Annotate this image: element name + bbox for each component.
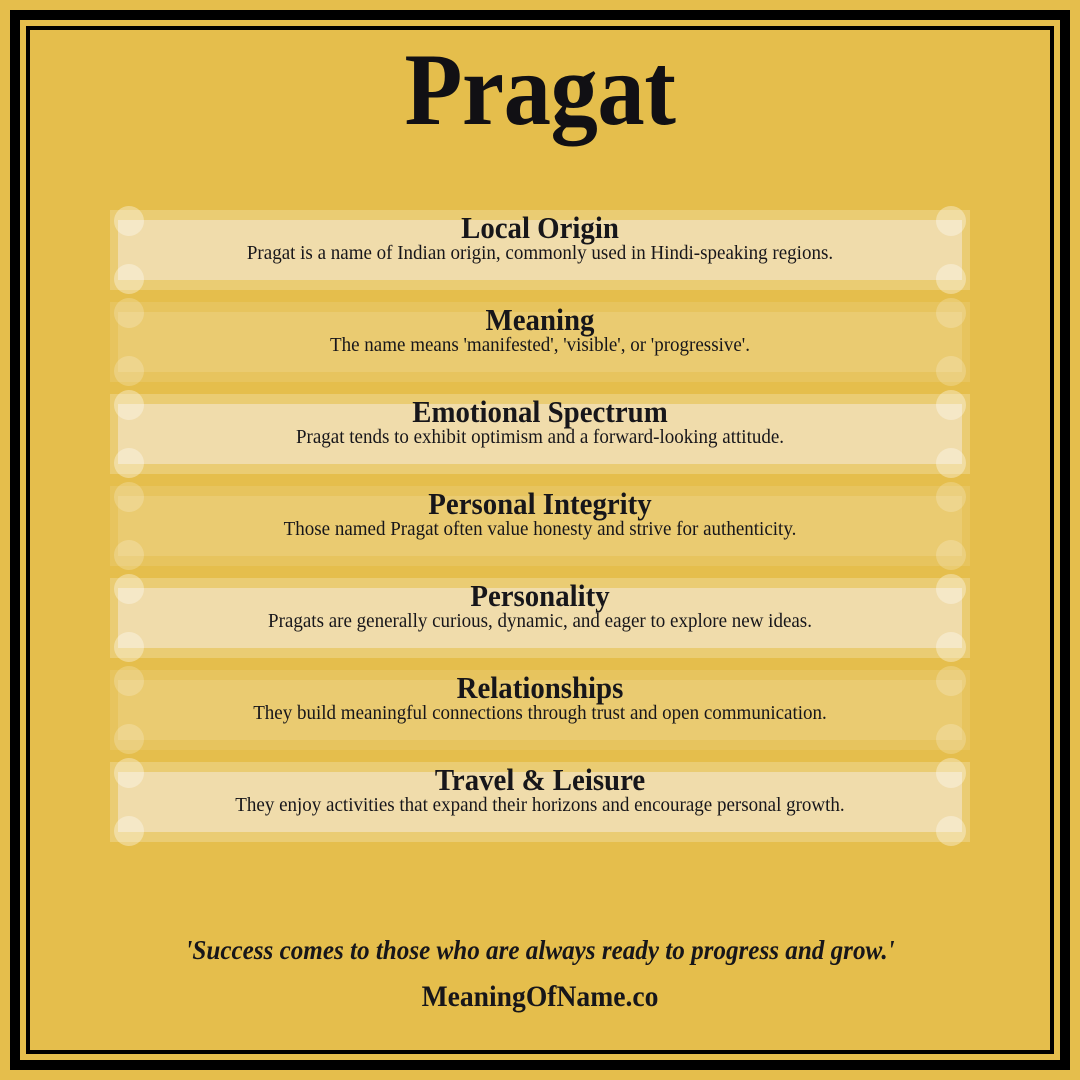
card-heading: Meaning bbox=[140, 304, 940, 335]
card-description: They build meaningful connections throug… bbox=[132, 703, 949, 723]
footer-brand: MeaningOfName.co bbox=[43, 980, 1037, 1014]
card-description: They enjoy activities that expand their … bbox=[132, 795, 949, 815]
card-description: The name means 'manifested', 'visible', … bbox=[132, 335, 949, 355]
attribute-card: Personal IntegrityThose named Pragat oft… bbox=[110, 486, 970, 566]
card-description: Those named Pragat often value honesty a… bbox=[132, 519, 949, 539]
attribute-card: Travel & LeisureThey enjoy activities th… bbox=[110, 762, 970, 842]
card-heading: Personality bbox=[140, 580, 940, 611]
card-text: MeaningThe name means 'manifested', 'vis… bbox=[110, 302, 970, 382]
card-text: RelationshipsThey build meaningful conne… bbox=[110, 670, 970, 750]
card-description: Pragats are generally curious, dynamic, … bbox=[132, 611, 949, 631]
attribute-card: RelationshipsThey build meaningful conne… bbox=[110, 670, 970, 750]
card-description: Pragat tends to exhibit optimism and a f… bbox=[132, 427, 949, 447]
card-text: Personal IntegrityThose named Pragat oft… bbox=[110, 486, 970, 566]
attribute-card: MeaningThe name means 'manifested', 'vis… bbox=[110, 302, 970, 382]
card-description: Pragat is a name of Indian origin, commo… bbox=[132, 243, 949, 263]
card-heading: Emotional Spectrum bbox=[140, 396, 940, 427]
attribute-card-list: Local OriginPragat is a name of Indian o… bbox=[110, 210, 970, 854]
attribute-card: Local OriginPragat is a name of Indian o… bbox=[110, 210, 970, 290]
card-text: Local OriginPragat is a name of Indian o… bbox=[110, 210, 970, 290]
footer-quote: 'Success comes to those who are always r… bbox=[38, 935, 1042, 966]
attribute-card: PersonalityPragats are generally curious… bbox=[110, 578, 970, 658]
name-meaning-poster: Pragat Local OriginPragat is a name of I… bbox=[0, 0, 1080, 1080]
card-text: Travel & LeisureThey enjoy activities th… bbox=[110, 762, 970, 842]
card-heading: Personal Integrity bbox=[140, 488, 940, 519]
card-heading: Local Origin bbox=[140, 212, 940, 243]
card-heading: Relationships bbox=[140, 672, 940, 703]
page-title: Pragat bbox=[43, 36, 1037, 145]
card-text: PersonalityPragats are generally curious… bbox=[110, 578, 970, 658]
card-heading: Travel & Leisure bbox=[140, 764, 940, 795]
attribute-card: Emotional SpectrumPragat tends to exhibi… bbox=[110, 394, 970, 474]
card-text: Emotional SpectrumPragat tends to exhibi… bbox=[110, 394, 970, 474]
